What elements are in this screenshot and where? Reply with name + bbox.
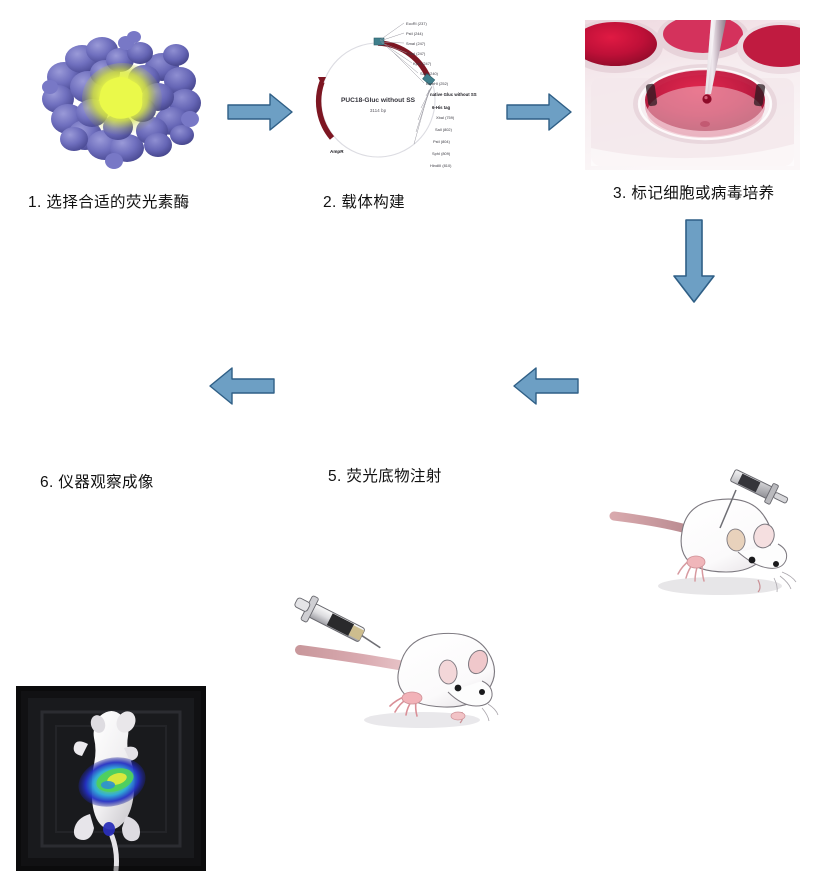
mouse-injection-icon	[612, 468, 812, 600]
plasmid-site: XmaI (247)	[406, 51, 426, 56]
arrow-3-4	[672, 218, 716, 304]
plasmid-site: KpnI (247)	[413, 61, 432, 66]
step3-caption: 3. 标记细胞或病毒培养	[613, 181, 775, 203]
plasmid-name: PUC18-Gluc without SS	[341, 97, 416, 104]
step3-culture-plate-photo	[585, 20, 800, 170]
step4-mouse-dorsal-injection	[612, 468, 815, 600]
plasmid-site: XbaI (759)	[436, 115, 455, 120]
step6-caption: 6. 仪器观察成像	[40, 470, 154, 492]
step1-caption: 1. 选择合适的荧光素酶	[28, 190, 190, 212]
step5-caption: 5. 荧光底物注射	[328, 464, 442, 486]
arrow-1-2	[226, 92, 294, 132]
step6-bioluminescence-image	[16, 686, 206, 871]
culture-plate-icon	[585, 20, 800, 170]
step2-caption: 2. 载体构建	[323, 190, 405, 212]
mouse-tail-vein-icon	[282, 600, 497, 732]
plasmid-ampr-label: AmpR	[330, 149, 344, 154]
arrow-2-3	[505, 92, 573, 132]
plasmid-site: SalI (802)	[435, 127, 453, 132]
plasmid-site: PstI (244)	[406, 31, 424, 36]
plasmid-map-icon: PUC18-Gluc without SS 3114 bp AmpR EcoRI…	[308, 16, 493, 186]
plasmid-site: HindIII (810)	[430, 163, 452, 168]
workflow-diagram: 1. 选择合适的荧光素酶	[0, 0, 815, 505]
step1-luciferase-protein	[30, 15, 210, 180]
plasmid-site: SphI (809)	[432, 151, 451, 156]
arrow-5-6	[208, 366, 276, 406]
plasmid-tag-label: 6-His tag	[432, 105, 451, 110]
plasmid-site: BamHI (252)	[426, 81, 449, 86]
step2-plasmid-map: PUC18-Gluc without SS 3114 bp AmpR EcoRI…	[308, 16, 493, 186]
plasmid-site: SmaI (247)	[406, 41, 426, 46]
plasmid-insert-label: native Gluc without SS	[430, 92, 477, 97]
arrow-4-5	[512, 366, 580, 406]
in-vivo-imaging-icon	[16, 686, 206, 871]
protein-structure-icon	[30, 15, 210, 180]
step5-mouse-tail-injection	[282, 600, 815, 732]
plasmid-size: 3114 bp	[370, 108, 387, 113]
plasmid-site: EcoRI (237)	[406, 21, 427, 26]
plasmid-site: SacI (240)	[420, 71, 439, 76]
plasmid-site: PstI (804)	[433, 139, 451, 144]
